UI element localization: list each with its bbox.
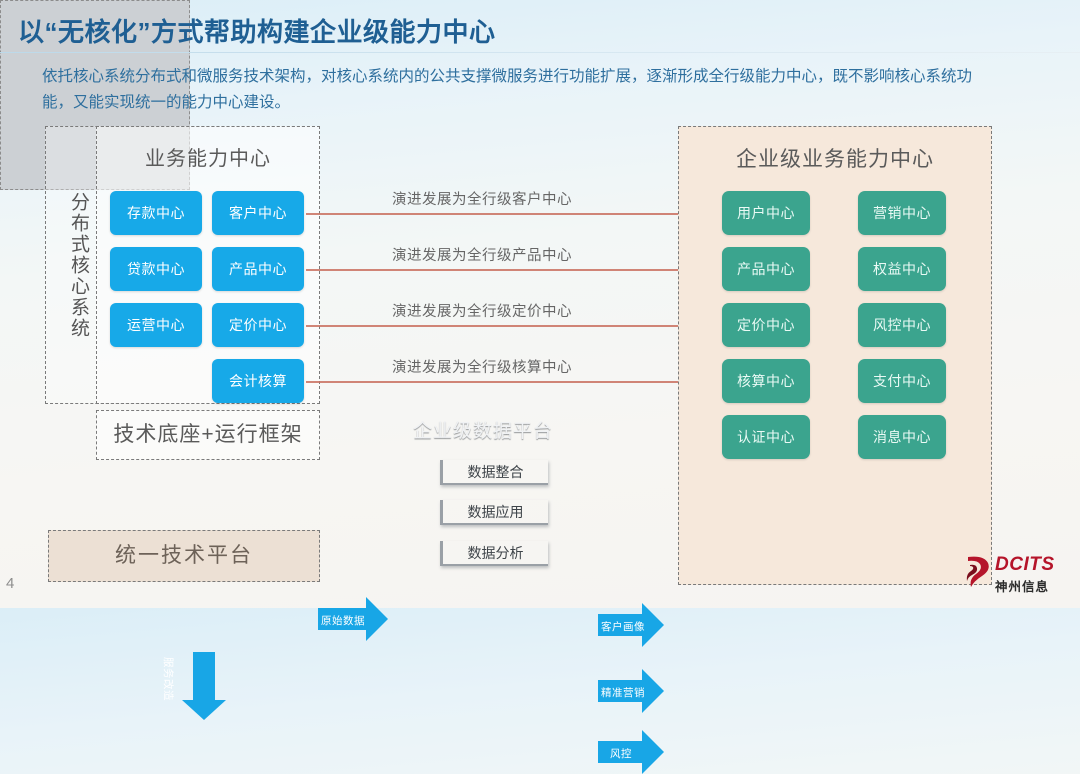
raw-data-arrow-head xyxy=(366,597,388,641)
blue-card-accounting[interactable]: 会计核算 xyxy=(212,359,304,403)
risk-control-arrow-label: 风控 xyxy=(610,746,632,761)
risk-control-arrow-head xyxy=(642,730,664,774)
enterprise-capability-title: 企业级业务能力中心 xyxy=(678,143,992,173)
business-capability-center-title: 业务能力中心 xyxy=(96,142,320,171)
tech-base-label: 技术底座+运行框架 xyxy=(97,411,319,459)
unified-tech-platform-panel: 统一技术平台 xyxy=(48,530,320,582)
service-transform-arrow-shaft xyxy=(193,652,215,700)
blue-card-pricing[interactable]: 定价中心 xyxy=(212,303,304,347)
blue-card-customer[interactable]: 客户中心 xyxy=(212,191,304,235)
precision-marketing-arrow-label: 精准营销 xyxy=(601,685,645,700)
evolution-label-accounting: 演进发展为全行级核算中心 xyxy=(392,356,572,377)
green-card-risk[interactable]: 风控中心 xyxy=(858,303,946,347)
green-card-message[interactable]: 消息中心 xyxy=(858,415,946,459)
green-card-accounting[interactable]: 核算中心 xyxy=(722,359,810,403)
customer-profile-arrow-head xyxy=(642,603,664,647)
evolution-line-pricing xyxy=(306,325,718,327)
evolution-label-product: 演进发展为全行级产品中心 xyxy=(392,244,572,265)
green-card-payment[interactable]: 支付中心 xyxy=(858,359,946,403)
green-card-authentication[interactable]: 认证中心 xyxy=(722,415,810,459)
dcits-logo-text: DCITS xyxy=(995,554,1055,576)
green-card-user[interactable]: 用户中心 xyxy=(722,191,810,235)
blue-card-loan[interactable]: 贷款中心 xyxy=(110,247,202,291)
data-platform-item-analysis[interactable]: 数据分析 xyxy=(440,541,548,566)
evolution-line-product xyxy=(306,269,718,271)
evolution-label-customer: 演进发展为全行级客户中心 xyxy=(392,188,572,209)
evolution-label-pricing: 演进发展为全行级定价中心 xyxy=(392,300,572,321)
service-transform-arrow-head xyxy=(182,700,226,720)
green-card-pricing[interactable]: 定价中心 xyxy=(722,303,810,347)
blue-card-deposit[interactable]: 存款中心 xyxy=(110,191,202,235)
green-card-product[interactable]: 产品中心 xyxy=(722,247,810,291)
evolution-line-customer xyxy=(306,213,718,215)
green-card-marketing[interactable]: 营销中心 xyxy=(858,191,946,235)
tech-base-panel: 技术底座+运行框架 xyxy=(96,410,320,460)
raw-data-arrow-label: 原始数据 xyxy=(321,613,365,628)
data-platform-item-application[interactable]: 数据应用 xyxy=(440,500,548,525)
precision-marketing-arrow-head xyxy=(642,669,664,713)
blue-card-operation[interactable]: 运营中心 xyxy=(110,303,202,347)
page-title: 以“无核化”方式帮助构建企业级能力中心 xyxy=(18,12,496,49)
page-number: 4 xyxy=(6,575,14,592)
green-card-rights[interactable]: 权益中心 xyxy=(858,247,946,291)
service-transform-arrow-label: 服务改造 xyxy=(161,657,176,701)
page-subtitle: 依托核心系统分布式和微服务技术架构，对核心系统内的公共支撑微服务进行功能扩展，逐… xyxy=(42,64,982,116)
evolution-line-accounting xyxy=(306,381,718,383)
enterprise-data-platform-title: 企业级数据平台 xyxy=(388,416,578,443)
dcits-logo-mark xyxy=(962,554,992,588)
data-platform-item-integration[interactable]: 数据整合 xyxy=(440,460,548,485)
blue-card-product[interactable]: 产品中心 xyxy=(212,247,304,291)
customer-profile-arrow-label: 客户画像 xyxy=(601,619,645,634)
unified-tech-platform-label: 统一技术平台 xyxy=(49,531,319,581)
title-divider xyxy=(0,52,1080,53)
distributed-core-system-label: 分布式核心系统 xyxy=(47,170,91,360)
dcits-logo: DCITS 神州信息 xyxy=(962,552,1074,598)
dcits-logo-subtext: 神州信息 xyxy=(995,576,1049,595)
